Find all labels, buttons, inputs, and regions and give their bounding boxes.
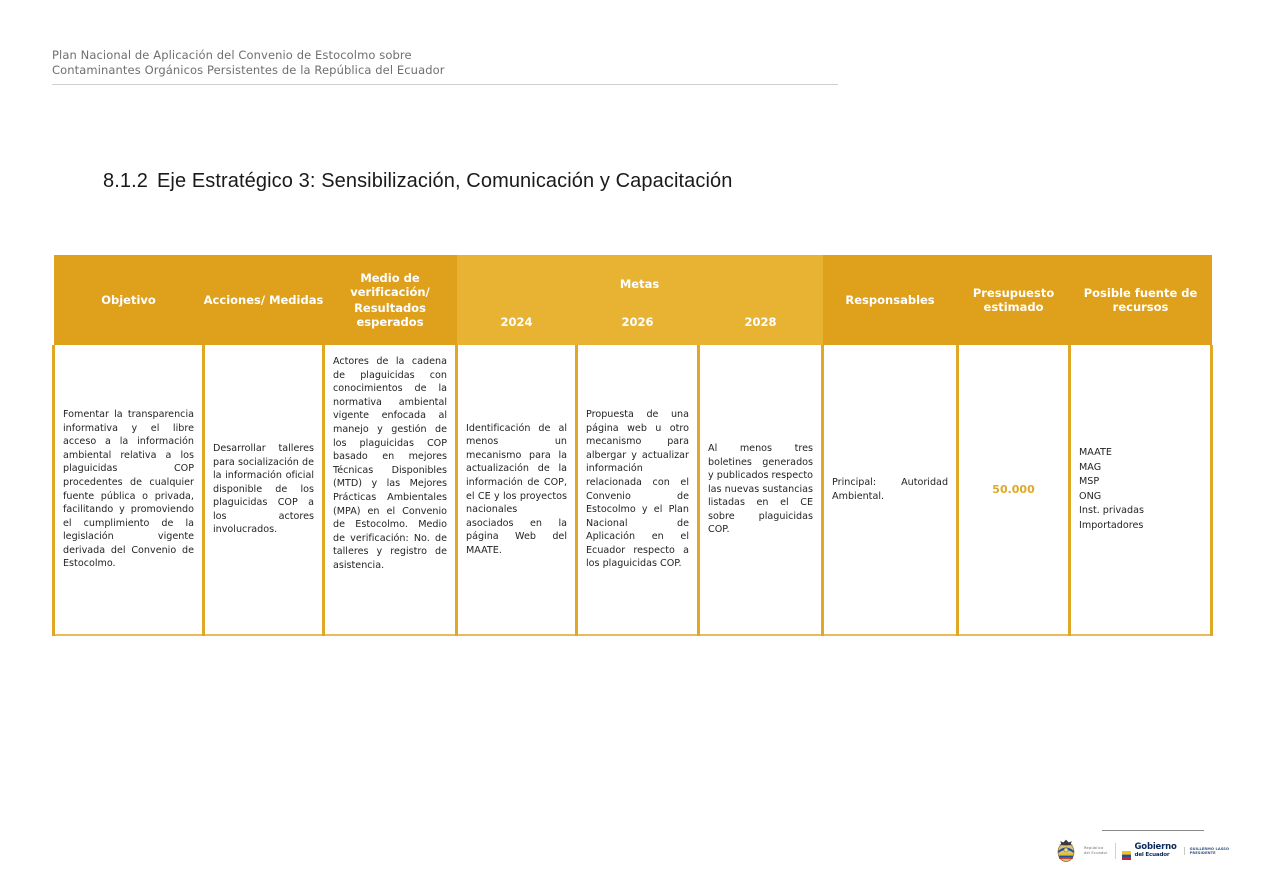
plan-table-head: Objetivo Acciones/ Medidas Medio de veri… (54, 255, 1212, 345)
cell-meta-2024: Identificación de al menos un mecanismo … (457, 345, 577, 635)
section-title-text: Eje Estratégico 3: Sensibilización, Comu… (157, 170, 732, 192)
header-fuente-recursos: Posible fuente de recursos (1070, 255, 1212, 345)
header-acciones: Acciones/ Medidas (204, 255, 324, 345)
running-header-line-1: Plan Nacional de Aplicación del Convenio… (52, 48, 842, 63)
gobierno-del-ecuador-logo: Gobierno del Ecuador (1115, 843, 1177, 860)
cell-fuente-recursos: MAATE MAG MSP ONG Inst. privadas Importa… (1070, 345, 1212, 635)
header-year-2028: 2028 (699, 299, 823, 345)
header-presupuesto: Presupuesto estimado (958, 255, 1070, 345)
header-objetivo: Objetivo (54, 255, 204, 345)
running-header-rule (52, 84, 838, 85)
header-metas: Metas (457, 255, 823, 299)
cell-meta-2028: Al menos tres boletines generados y publ… (699, 345, 823, 635)
cell-medio-verificacion: Actores de la cadena de plaguicidas con … (324, 345, 457, 635)
ecuador-coat-of-arms-icon (1055, 838, 1077, 864)
plan-table-container: Objetivo Acciones/ Medidas Medio de veri… (52, 255, 1210, 636)
president-title: PRESIDENTE (1190, 851, 1230, 855)
header-medio-bottom: Resultados esperados (328, 301, 453, 329)
cell-objetivo: Fomentar la transparencia informativa y … (54, 345, 204, 635)
footer-logos: República del Ecuador Gobierno del Ecuad… (1055, 828, 1215, 880)
header-row-1: Objetivo Acciones/ Medidas Medio de veri… (54, 255, 1212, 299)
running-header: Plan Nacional de Aplicación del Convenio… (52, 48, 842, 85)
gobierno-line-1: Gobierno (1135, 843, 1177, 851)
gobierno-wordmark: Gobierno del Ecuador (1135, 843, 1177, 860)
header-metas-label: Metas (457, 264, 823, 291)
header-responsables: Responsables (823, 255, 958, 345)
coat-caption-line-2: del Ecuador (1084, 851, 1108, 856)
coat-caption: República del Ecuador (1084, 846, 1108, 855)
cell-presupuesto: 50.000 (958, 345, 1070, 635)
cell-meta-2026: Propuesta de una página web u otro mecan… (577, 345, 699, 635)
flag-icon (1122, 847, 1131, 856)
section-heading: 8.1.2Eje Estratégico 3: Sensibilización,… (103, 168, 732, 194)
cell-acciones: Desarrollar talleres para socialización … (204, 345, 324, 635)
gobierno-line-2: del Ecuador (1135, 851, 1177, 859)
plan-table-body: Fomentar la transparencia informativa y … (54, 345, 1212, 635)
header-year-2024: 2024 (457, 299, 577, 345)
plan-table: Objetivo Acciones/ Medidas Medio de veri… (52, 255, 1213, 636)
header-acciones-label: Acciones/ Medidas (204, 293, 324, 307)
running-header-line-2: Contaminantes Orgánicos Persistentes de … (52, 63, 842, 78)
header-medio-verificacion: Medio de verificación/ Resultados espera… (324, 255, 457, 345)
table-row: Fomentar la transparencia informativa y … (54, 345, 1212, 635)
header-medio-top: Medio de verificación/ (328, 271, 453, 299)
section-number: 8.1.2 (103, 170, 148, 192)
president-block: GUILLERMO LASSO PRESIDENTE (1184, 847, 1230, 856)
header-year-2026: 2026 (577, 299, 699, 345)
footer-rule (1102, 830, 1204, 831)
cell-responsables: Principal: Autoridad Ambiental. (823, 345, 958, 635)
